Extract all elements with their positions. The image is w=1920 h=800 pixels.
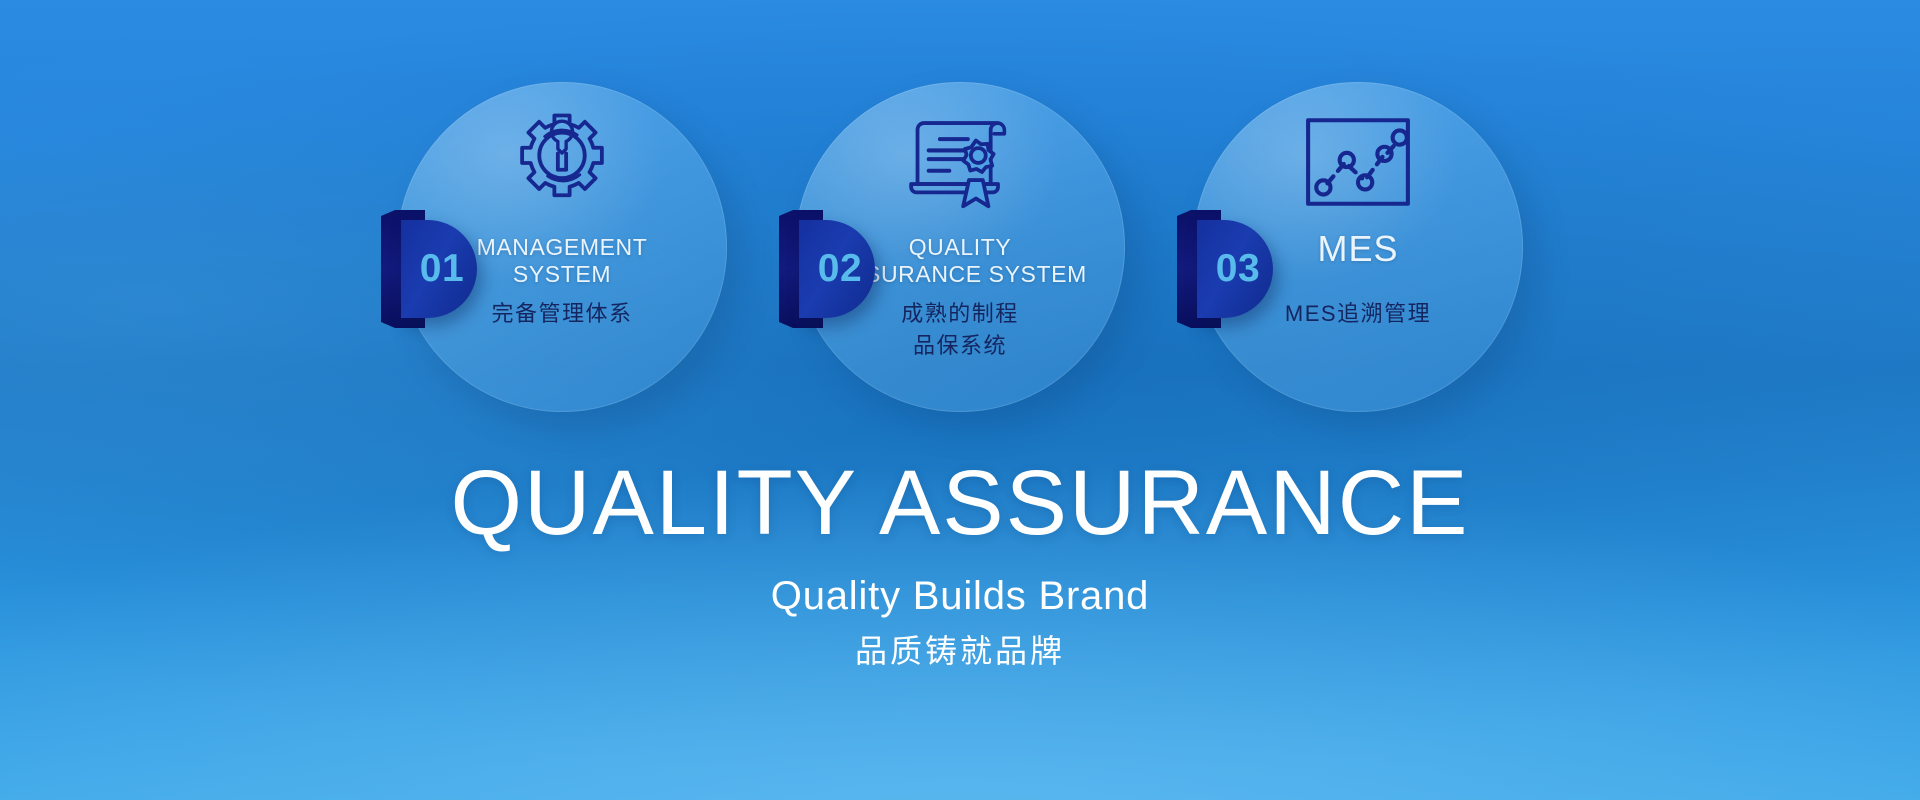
headline-block: QUALITY ASSURANCE Quality Builds Brand 品… bbox=[0, 455, 1920, 669]
subtitle-english: Quality Builds Brand bbox=[0, 574, 1920, 618]
card-number-badge: 01 bbox=[381, 210, 489, 328]
badge-number: 01 bbox=[407, 220, 477, 318]
card-number-badge: 02 bbox=[779, 210, 887, 328]
feature-card[interactable]: QUALITY ASSURANCE SYSTEM 成熟的制程 品保系统 02 bbox=[785, 82, 1135, 442]
badge-number: 02 bbox=[805, 220, 875, 318]
badge-number: 03 bbox=[1203, 220, 1273, 318]
certificate-seal-icon bbox=[898, 106, 1022, 218]
page-title: QUALITY ASSURANCE bbox=[0, 455, 1920, 552]
feature-card[interactable]: MANAGEMENT SYSTEM 完备管理体系 01 bbox=[387, 82, 737, 442]
quality-assurance-banner: MANAGEMENT SYSTEM 完备管理体系 01 bbox=[0, 0, 1920, 800]
subtitle-chinese: 品质铸就品牌 bbox=[0, 634, 1920, 669]
card-number-badge: 03 bbox=[1177, 210, 1285, 328]
card-cn-line2: 品保系统 bbox=[800, 330, 1120, 362]
line-chart-icon bbox=[1296, 106, 1420, 218]
gear-wrench-icon bbox=[500, 106, 624, 218]
feature-card[interactable]: MES MES追溯管理 03 bbox=[1183, 82, 1533, 442]
feature-card-row: MANAGEMENT SYSTEM 完备管理体系 01 bbox=[0, 82, 1920, 442]
